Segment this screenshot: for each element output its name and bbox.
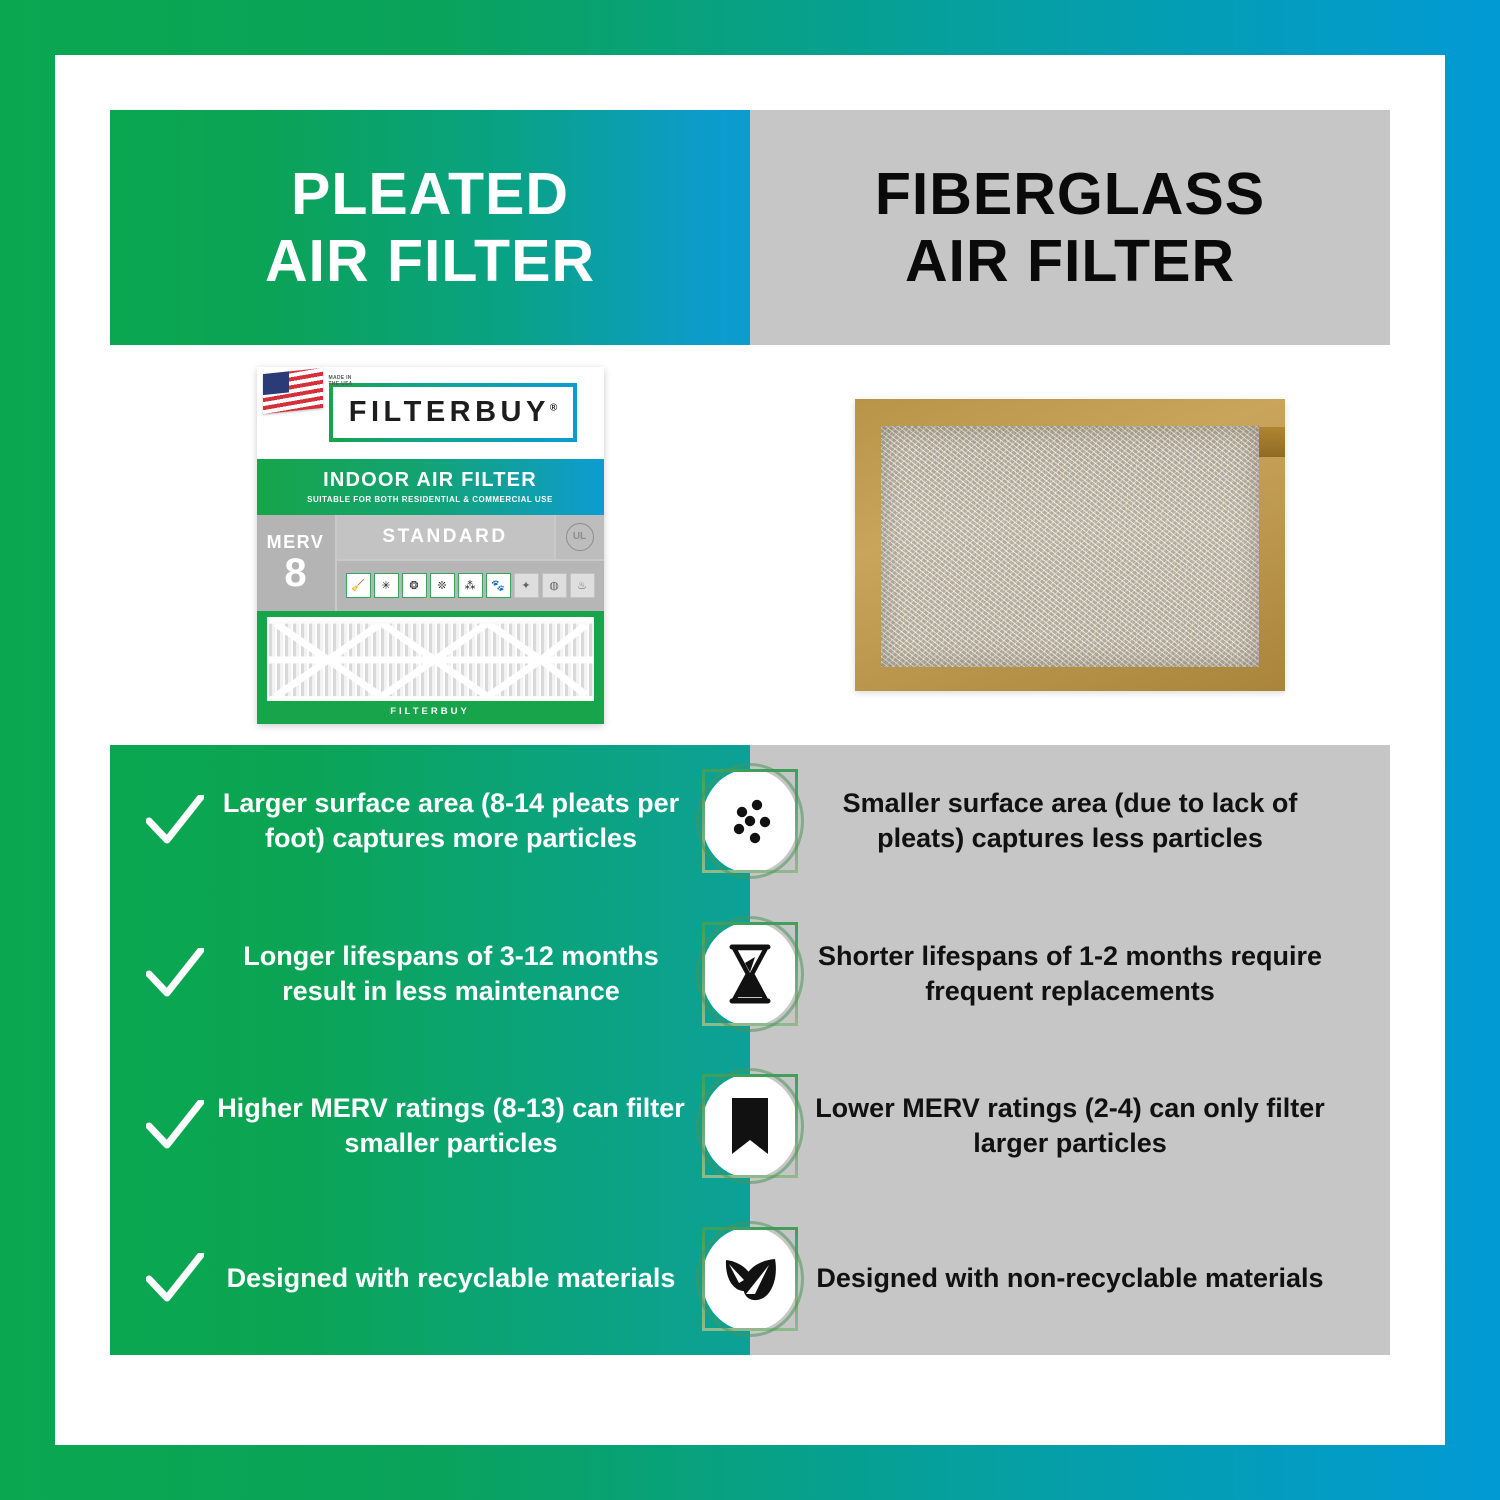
virus-icon: ✦ (514, 573, 539, 598)
comparison-row: Larger surface area (8-14 pleats per foo… (110, 745, 1390, 898)
checkmark-icon (144, 948, 206, 1000)
smoke-icon: ❊ (430, 573, 455, 598)
ul-certification-icon: UL (566, 523, 594, 551)
comparison-left-cell: Designed with recyclable materials (110, 1253, 750, 1305)
comparison-right-text: Smaller surface area (due to lack of ple… (812, 786, 1328, 856)
mold-icon: ❂ (402, 573, 427, 598)
checkmark-icon (144, 1253, 206, 1305)
hourglass-icon (702, 922, 798, 1026)
comparison-right-text: Designed with non-recyclable materials (816, 1261, 1323, 1296)
usa-flag-icon (263, 367, 323, 413)
comparison-right-cell: Designed with non-recyclable materials (750, 1261, 1390, 1296)
comparison-left-text: Larger surface area (8-14 pleats per foo… (214, 786, 750, 856)
made-in-usa-label: MADE IN THE USA (329, 375, 353, 388)
comparison-left-text: Designed with recyclable materials (214, 1261, 750, 1296)
product-cell-pleated: MADE IN THE USA FILTERBUY® INDOOR AIR FI… (110, 345, 750, 745)
comparison-section: Larger surface area (8-14 pleats per foo… (110, 745, 1390, 1355)
odor-icon: ♨ (570, 573, 595, 598)
smog-icon: ◍ (542, 573, 567, 598)
infographic-poster: PLEATED AIR FILTER FIBERGLASS AIR FILTER… (0, 0, 1500, 1500)
comparison-right-text: Lower MERV ratings (2-4) can only filter… (812, 1091, 1328, 1161)
comparison-right-cell: Smaller surface area (due to lack of ple… (750, 786, 1390, 856)
leaf-eco-icon (702, 1227, 798, 1331)
feature-icon-strip: 🧹 ✳ ❂ ❊ ⁂ 🐾 ✦ ◍ ♨ (335, 559, 604, 611)
pleated-media (267, 617, 594, 701)
product-cell-fiberglass (750, 345, 1390, 745)
fiberglass-filter-image (855, 399, 1285, 691)
header-fiberglass-title: FIBERGLASS AIR FILTER (875, 161, 1265, 294)
particles-icon (702, 769, 798, 873)
bacteria-icon: ⁂ (458, 573, 483, 598)
product-row: MADE IN THE USA FILTERBUY® INDOOR AIR FI… (110, 345, 1390, 745)
filter-bottom-brand: FILTERBUY (267, 706, 594, 717)
comparison-row: Higher MERV ratings (8-13) can filter sm… (110, 1050, 1390, 1203)
comparison-right-text: Shorter lifespans of 1-2 months require … (812, 939, 1328, 1009)
comparison-left-text: Higher MERV ratings (8-13) can filter sm… (214, 1091, 750, 1161)
filter-box-media-area: FILTERBUY (257, 611, 604, 724)
pollen-icon: ✳ (374, 573, 399, 598)
comparison-left-cell: Higher MERV ratings (8-13) can filter sm… (110, 1091, 750, 1161)
pet-dander-icon: 🐾 (486, 573, 511, 598)
comparison-left-cell: Larger surface area (8-14 pleats per foo… (110, 786, 750, 856)
bookmark-icon (702, 1074, 798, 1178)
infographic-card: PLEATED AIR FILTER FIBERGLASS AIR FILTER… (55, 55, 1445, 1445)
checkmark-icon (144, 795, 206, 847)
header-row: PLEATED AIR FILTER FIBERGLASS AIR FILTER (110, 110, 1390, 345)
header-pleated: PLEATED AIR FILTER (110, 110, 750, 345)
comparison-right-cell: Shorter lifespans of 1-2 months require … (750, 939, 1390, 1009)
filter-box-top: MADE IN THE USA FILTERBUY® (257, 367, 604, 459)
suitable-use-label: SUITABLE FOR BOTH RESIDENTIAL & COMMERCI… (307, 495, 553, 504)
checkmark-icon (144, 1100, 206, 1152)
header-pleated-title: PLEATED AIR FILTER (265, 161, 595, 294)
merv-block: MERV 8 (257, 515, 335, 611)
comparison-row: Designed with recyclable materials Desig… (110, 1203, 1390, 1356)
dust-icon: 🧹 (346, 573, 371, 598)
comparison-right-cell: Lower MERV ratings (2-4) can only filter… (750, 1091, 1390, 1161)
filterbuy-logo-text: FILTERBUY® (349, 396, 557, 428)
comparison-left-text: Longer lifespans of 3-12 months result i… (214, 939, 750, 1009)
filterbuy-logo: FILTERBUY® (329, 383, 577, 442)
support-webbing-icon (267, 617, 594, 701)
header-fiberglass: FIBERGLASS AIR FILTER (750, 110, 1390, 345)
filter-box-spec-right: STANDARD UL 🧹 ✳ ❂ ❊ ⁂ (335, 515, 604, 611)
grade-row: STANDARD UL (335, 515, 604, 559)
ul-certification-block: UL (554, 515, 604, 559)
filter-box-band: INDOOR AIR FILTER SUITABLE FOR BOTH RESI… (257, 459, 604, 515)
filter-box-spec-area: MERV 8 STANDARD UL 🧹 (257, 515, 604, 611)
merv-value: 8 (284, 553, 306, 593)
pleated-filter-box-image: MADE IN THE USA FILTERBUY® INDOOR AIR FI… (257, 367, 604, 724)
comparison-left-cell: Longer lifespans of 3-12 months result i… (110, 939, 750, 1009)
fiberglass-mesh (881, 426, 1259, 667)
merv-label: MERV (267, 532, 325, 553)
indoor-air-filter-label: INDOOR AIR FILTER (323, 469, 537, 492)
comparison-row: Longer lifespans of 3-12 months result i… (110, 898, 1390, 1051)
grade-label: STANDARD (337, 515, 554, 559)
fiberglass-frame-tab (1259, 427, 1285, 457)
